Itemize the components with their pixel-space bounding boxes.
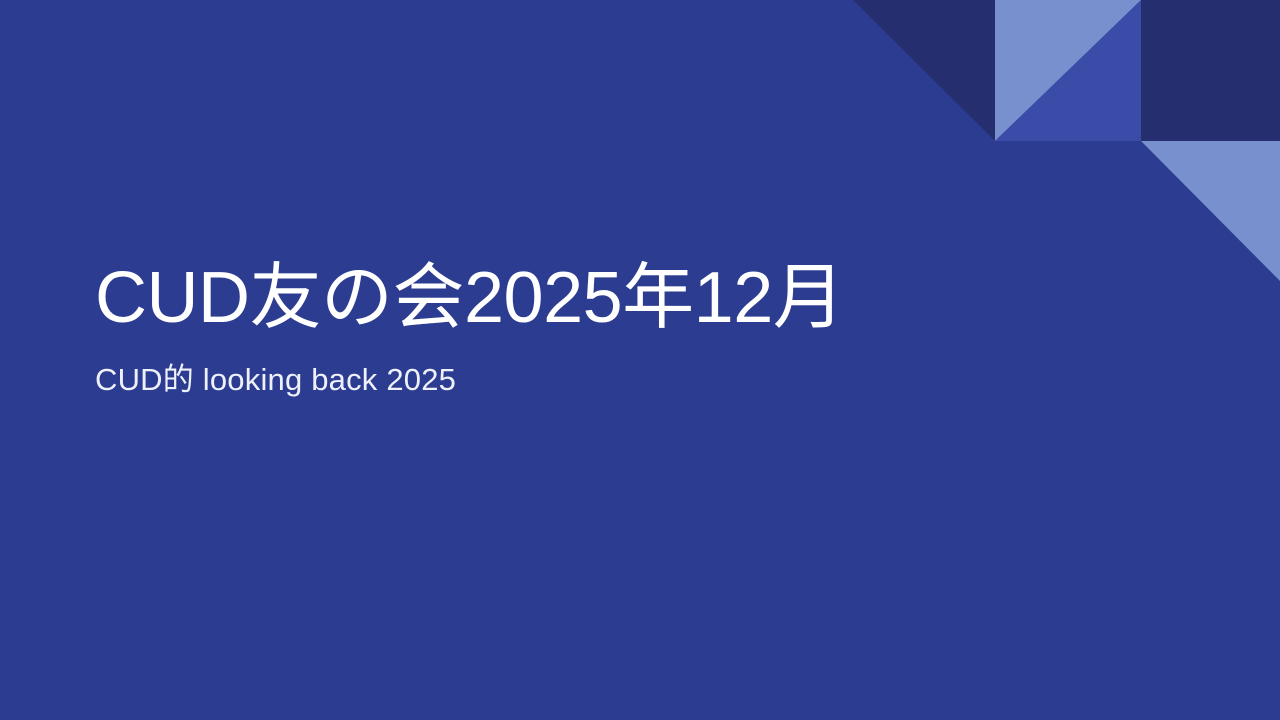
dark-navy-triangle-top-icon	[853, 0, 995, 141]
title-slide: CUD友の会2025年12月 CUD的 looking back 2025	[0, 0, 1280, 720]
medium-blue-triangle-square-lower-icon	[995, 0, 1141, 141]
light-blue-triangle-square-upper-icon	[995, 0, 1141, 141]
page-title: CUD友の会2025年12月	[95, 258, 995, 339]
dark-navy-block-top-right-icon	[1141, 0, 1280, 141]
title-text-block: CUD友の会2025年12月 CUD的 looking back 2025	[95, 258, 995, 399]
light-blue-triangle-right-icon	[1141, 141, 1280, 281]
page-subtitle: CUD的 looking back 2025	[95, 339, 995, 400]
